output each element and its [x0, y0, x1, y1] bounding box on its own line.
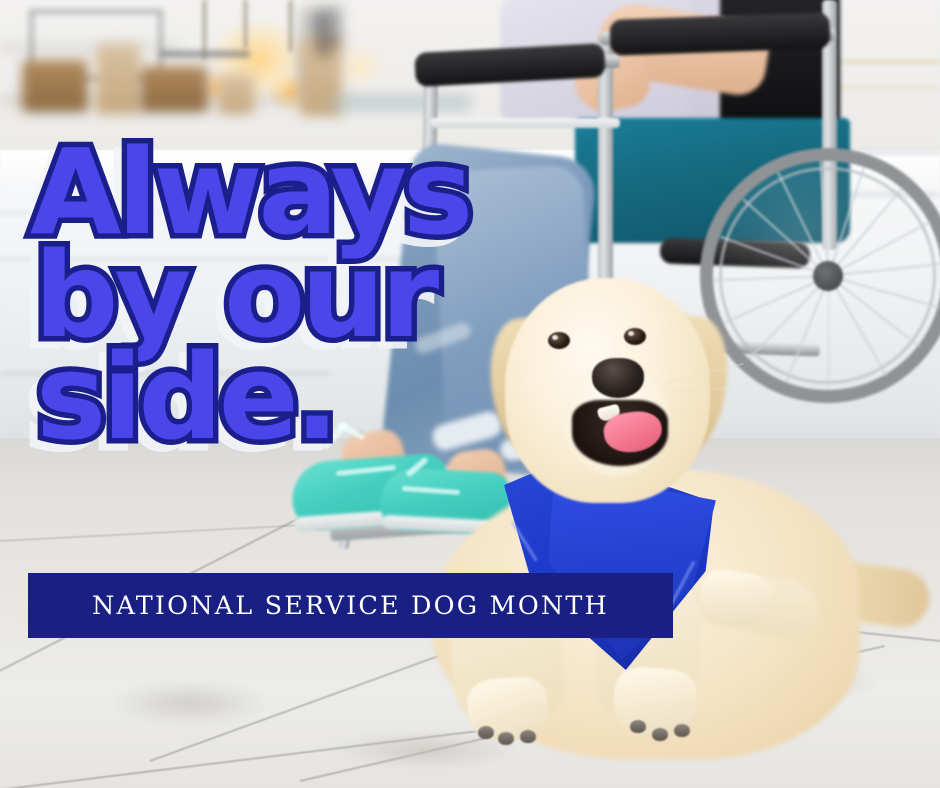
- dog-claw: [674, 724, 690, 737]
- cabinet-seam: [0, 258, 470, 260]
- dog-eye-right: [624, 328, 646, 345]
- window-blind-line: [836, 86, 940, 90]
- dog-claw: [652, 728, 668, 741]
- pendant-cord: [243, 0, 248, 48]
- cabinet-seam: [0, 372, 330, 375]
- blur-shape: [330, 96, 470, 112]
- social-media-poster: Always Always Always by our by our by ou…: [0, 0, 940, 788]
- campaign-banner: NATIONAL SERVICE DOG MONTH: [28, 573, 673, 638]
- basket-shape: [140, 66, 208, 112]
- background-photo: [0, 0, 940, 788]
- jar-shape: [218, 74, 254, 114]
- wheel-hub: [813, 261, 843, 291]
- floor-grain: [110, 680, 270, 726]
- knife-shape: [330, 6, 340, 48]
- wheelchair-armrest: [609, 12, 830, 56]
- campaign-banner-text: NATIONAL SERVICE DOG MONTH: [92, 591, 609, 621]
- basket-shape: [22, 60, 88, 112]
- dog-claw: [478, 726, 494, 739]
- dog-claw: [630, 720, 646, 733]
- dog-claw: [520, 730, 536, 743]
- window-blind-line: [836, 60, 940, 64]
- pendant-cord: [202, 0, 207, 60]
- knife-shape: [316, 10, 330, 56]
- dog-eye-left: [548, 332, 570, 349]
- wheelchair-frame-rail: [430, 118, 620, 128]
- jar-shape: [96, 44, 140, 114]
- cabinet-seam: [0, 212, 380, 214]
- dog-nose: [592, 358, 644, 398]
- pendant-cord: [288, 0, 293, 52]
- dog-claw: [498, 732, 514, 745]
- cabinet-handle: [240, 174, 360, 177]
